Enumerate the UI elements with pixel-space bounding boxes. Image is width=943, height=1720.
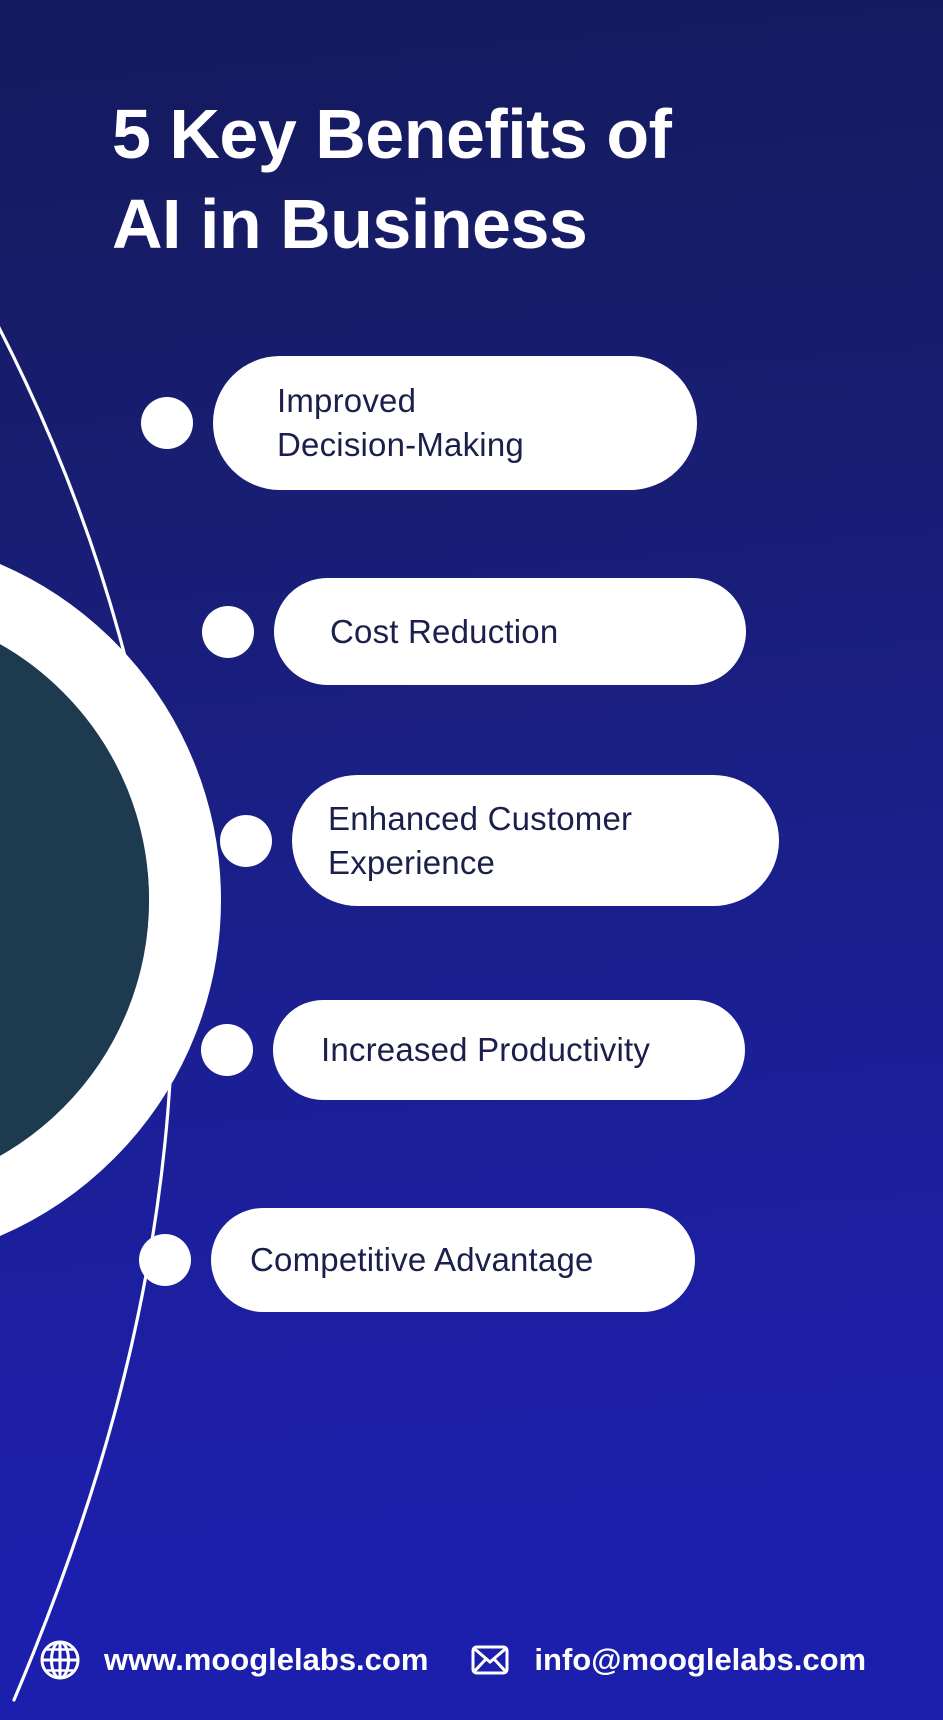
envelope-icon	[468, 1638, 512, 1682]
email-text: info@mooglelabs.com	[534, 1642, 866, 1678]
bullet-dot-icon	[141, 397, 193, 449]
benefit-label-3: Enhanced Customer Experience	[328, 797, 632, 884]
footer-website[interactable]: www.mooglelabs.com	[38, 1638, 428, 1682]
benefit-item-2[interactable]: Cost Reduction	[202, 578, 746, 685]
benefit-label-2: Cost Reduction	[330, 610, 558, 654]
benefit-pill-4[interactable]: Increased Productivity	[273, 1000, 745, 1100]
footer-contact-bar: www.mooglelabs.com info@mooglelabs.com	[38, 1638, 866, 1682]
benefit-label-1: Improved Decision-Making	[277, 379, 524, 466]
benefit-pill-5[interactable]: Competitive Advantage	[211, 1208, 695, 1312]
benefit-label-4: Increased Productivity	[321, 1028, 650, 1072]
footer-email[interactable]: info@mooglelabs.com	[468, 1638, 866, 1682]
benefit-item-4[interactable]: Increased Productivity	[201, 1000, 745, 1100]
benefit-pill-3[interactable]: Enhanced Customer Experience	[292, 775, 779, 906]
benefit-item-5[interactable]: Competitive Advantage	[139, 1208, 695, 1312]
bullet-dot-icon	[220, 815, 272, 867]
benefits-list: Improved Decision-Making Cost Reduction …	[0, 0, 943, 1720]
website-text: www.mooglelabs.com	[104, 1642, 428, 1678]
globe-icon	[38, 1638, 82, 1682]
bullet-dot-icon	[202, 606, 254, 658]
benefit-pill-1[interactable]: Improved Decision-Making	[213, 356, 697, 490]
benefit-item-3[interactable]: Enhanced Customer Experience	[220, 775, 779, 906]
infographic-poster: 5 Key Benefits of AI in Business Improve…	[0, 0, 943, 1720]
benefit-pill-2[interactable]: Cost Reduction	[274, 578, 746, 685]
benefit-label-5: Competitive Advantage	[250, 1238, 594, 1282]
bullet-dot-icon	[201, 1024, 253, 1076]
benefit-item-1[interactable]: Improved Decision-Making	[141, 356, 697, 490]
bullet-dot-icon	[139, 1234, 191, 1286]
